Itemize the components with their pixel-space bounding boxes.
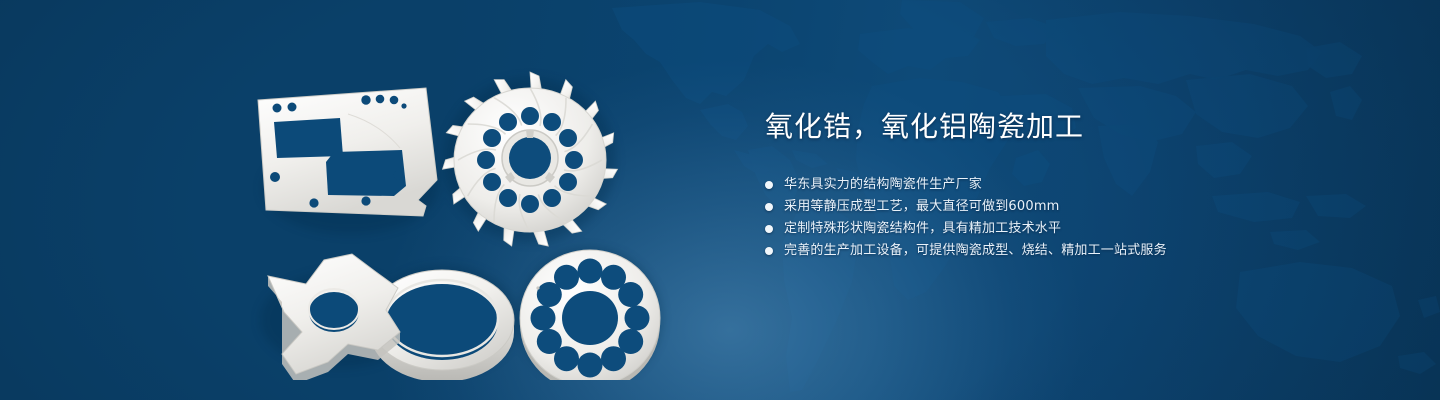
list-item-label: 完善的生产加工设备，可提供陶瓷成型、烧结、精加工一站式服务 (784, 240, 1167, 262)
list-item-label: 华东具实力的结构陶瓷件生产厂家 (784, 174, 982, 196)
bullet-dot-icon (765, 247, 773, 255)
list-item-label: 采用等静压成型工艺，最大直径可做到600mm (784, 196, 1060, 218)
page-title: 氧化锆，氧化铝陶瓷加工 (765, 108, 1385, 146)
hero-banner: 氧化锆，氧化铝陶瓷加工 华东具实力的结构陶瓷件生产厂家 采用等静压成型工艺，最大… (0, 0, 1440, 400)
list-item: 采用等静压成型工艺，最大直径可做到600mm (765, 196, 1385, 218)
bullet-dot-icon (765, 203, 773, 211)
bullet-dot-icon (765, 225, 773, 233)
ceramic-impeller-disc (441, 72, 618, 249)
ceramic-parts-photo (230, 40, 730, 380)
list-item-label: 定制特殊形状陶瓷结构件，具有精加工技术水平 (784, 218, 1061, 240)
ceramic-perforated-disc (520, 250, 660, 380)
bullet-dot-icon (765, 181, 773, 189)
feature-list: 华东具实力的结构陶瓷件生产厂家 采用等静压成型工艺，最大直径可做到600mm 定… (765, 174, 1385, 262)
machined-ceramic-plate (258, 88, 437, 216)
list-item: 华东具实力的结构陶瓷件生产厂家 (765, 174, 1385, 196)
banner-copy: 氧化锆，氧化铝陶瓷加工 华东具实力的结构陶瓷件生产厂家 采用等静压成型工艺，最大… (765, 108, 1385, 262)
list-item: 定制特殊形状陶瓷结构件，具有精加工技术水平 (765, 218, 1385, 240)
list-item: 完善的生产加工设备，可提供陶瓷成型、烧结、精加工一站式服务 (765, 240, 1385, 262)
